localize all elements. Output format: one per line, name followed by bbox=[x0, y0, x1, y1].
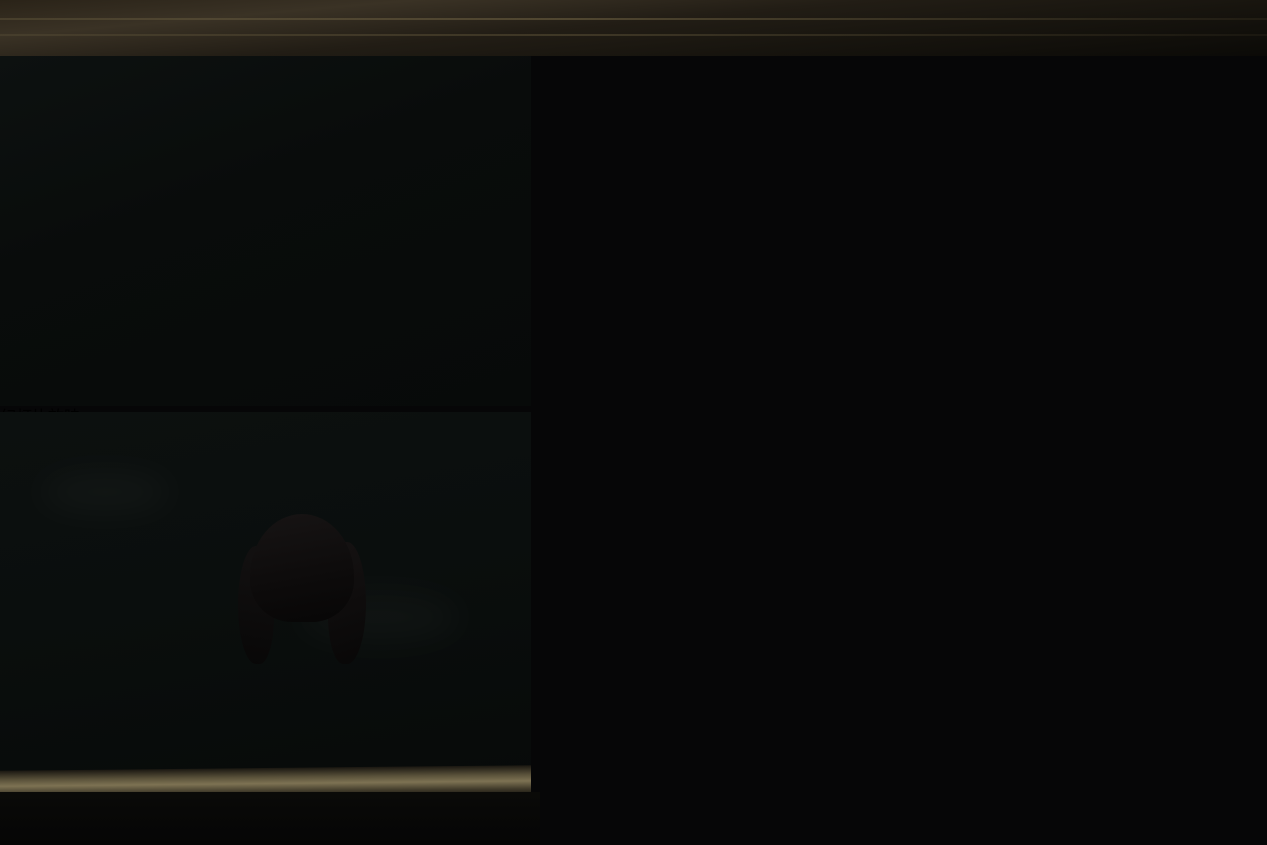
classroom-scene: ↶ ↷ ▾ 读书会3 - Microsoft PowerPoint 开始 插入 … bbox=[0, 0, 1267, 845]
blackboard-top-rail bbox=[0, 0, 1267, 56]
presenter-hair bbox=[250, 514, 354, 622]
blackboard-upper-panel bbox=[0, 56, 531, 406]
presenter bbox=[146, 512, 446, 845]
